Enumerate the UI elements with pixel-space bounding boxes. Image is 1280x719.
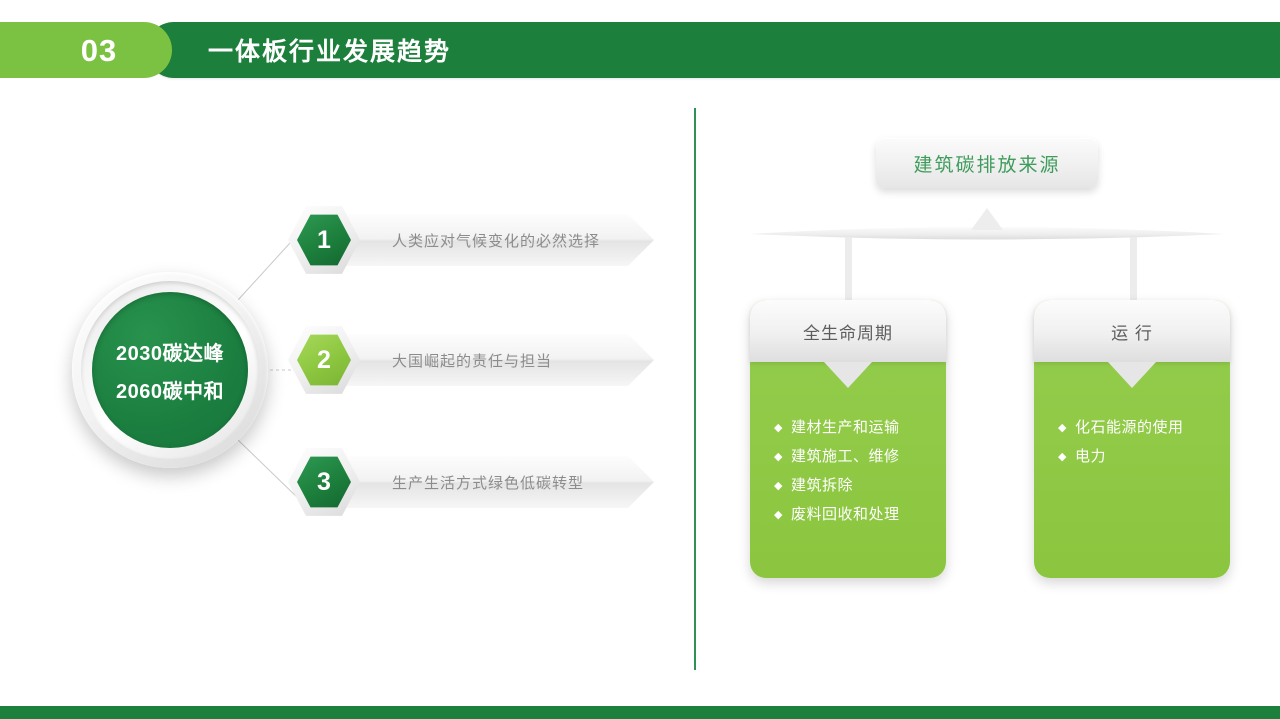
list-item: ◆ 电力 — [1034, 447, 1230, 467]
diamond-bullet-icon: ◆ — [774, 505, 783, 525]
bullet-label: 废料回收和处理 — [791, 505, 900, 525]
item-number: 2 — [317, 348, 331, 373]
item-label: 人类应对气候变化的必然选择 — [392, 230, 600, 251]
footer-bar — [0, 706, 1280, 719]
list-item[interactable]: 大国崛起的责任与担当 2 — [288, 324, 660, 396]
card-bullet-list: ◆ 建材生产和运输 ◆ 建筑施工、维修 ◆ 建筑拆除 ◆ 废料回收和处理 — [750, 418, 946, 525]
item-label: 生产生活方式绿色低碳转型 — [392, 472, 584, 493]
list-item[interactable]: 生产生活方式绿色低碳转型 3 — [288, 446, 660, 518]
item-number: 1 — [317, 228, 331, 253]
bullet-label: 电力 — [1075, 447, 1106, 467]
list-item[interactable]: 人类应对气候变化的必然选择 1 — [288, 204, 660, 276]
diamond-bullet-icon: ◆ — [774, 476, 783, 496]
page-title: 一体板行业发展趋势 — [208, 32, 451, 68]
list-item: ◆ 建材生产和运输 — [750, 418, 946, 438]
bullet-label: 建材生产和运输 — [791, 418, 900, 438]
card-lifecycle[interactable]: 全生命周期 ◆ 建材生产和运输 ◆ 建筑施工、维修 ◆ 建筑拆除 ◆ 废料回收和… — [750, 300, 946, 578]
root-node-label: 建筑碳排放来源 — [913, 150, 1060, 177]
card-notch — [1108, 362, 1156, 388]
hexagon-inner: 1 — [297, 213, 351, 267]
list-item: ◆ 建筑施工、维修 — [750, 447, 946, 467]
circle-core: 2030碳达峰 2060碳中和 — [92, 292, 248, 448]
center-circle: 2030碳达峰 2060碳中和 — [72, 272, 268, 468]
list-item: ◆ 废料回收和处理 — [750, 505, 946, 525]
section-number: 03 — [55, 35, 117, 66]
list-item: ◆ 建筑拆除 — [750, 476, 946, 496]
item-banner: 人类应对气候变化的必然选择 — [324, 214, 654, 266]
card-title: 运 行 — [1111, 319, 1153, 344]
card-operation[interactable]: 运 行 ◆ 化石能源的使用 ◆ 电力 — [1034, 300, 1230, 578]
diamond-bullet-icon: ◆ — [774, 447, 783, 467]
bullet-label: 建筑施工、维修 — [791, 447, 900, 467]
slide-canvas: 一体板行业发展趋势 03 2030碳达峰 2060碳中和 人类应对气候变化的必然… — [0, 0, 1280, 719]
hexagon-inner: 3 — [297, 455, 351, 509]
item-banner: 生产生活方式绿色低碳转型 — [324, 456, 654, 508]
card-title: 全生命周期 — [803, 319, 893, 344]
item-number: 3 — [317, 470, 331, 495]
card-notch — [824, 362, 872, 388]
header-number-bar: 03 — [0, 22, 172, 78]
header-title-bar: 一体板行业发展趋势 — [146, 22, 1280, 78]
bullet-label: 建筑拆除 — [791, 476, 853, 496]
bullet-label: 化石能源的使用 — [1075, 418, 1184, 438]
diamond-bullet-icon: ◆ — [774, 418, 783, 438]
list-item: ◆ 化石能源的使用 — [1034, 418, 1230, 438]
item-banner: 大国崛起的责任与担当 — [324, 334, 654, 386]
circle-line-2: 2060碳中和 — [116, 375, 224, 404]
card-header: 运 行 — [1034, 300, 1230, 362]
root-node[interactable]: 建筑碳排放来源 — [876, 138, 1098, 188]
diamond-bullet-icon: ◆ — [1058, 418, 1067, 438]
hexagon-inner: 2 — [297, 333, 351, 387]
vertical-divider — [694, 108, 696, 670]
item-label: 大国崛起的责任与担当 — [392, 350, 552, 371]
circle-line-1: 2030碳达峰 — [116, 337, 224, 366]
card-header: 全生命周期 — [750, 300, 946, 362]
card-bullet-list: ◆ 化石能源的使用 ◆ 电力 — [1034, 418, 1230, 467]
diamond-bullet-icon: ◆ — [1058, 447, 1067, 467]
